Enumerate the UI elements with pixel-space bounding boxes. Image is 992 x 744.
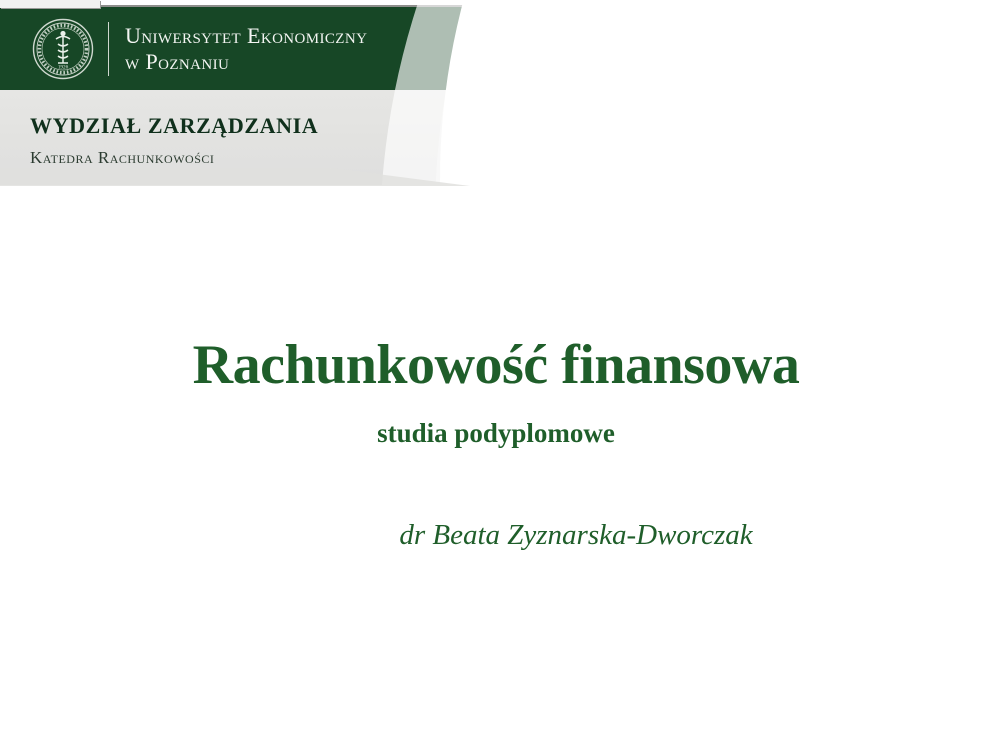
- slide-subtitle: studia podyplomowe: [0, 418, 992, 449]
- university-seal-logo: 1926: [32, 18, 94, 80]
- faculty-department-block: WYDZIAŁ ZARZĄDZANIA Katedra Rachunkowośc…: [30, 113, 318, 168]
- faculty-name: WYDZIAŁ ZARZĄDZANIA: [30, 113, 318, 139]
- slide-title: Rachunkowość finansowa: [0, 333, 992, 397]
- department-name: Katedra Rachunkowości: [30, 148, 318, 168]
- seal-year: 1926: [58, 65, 69, 71]
- slide-header: 1926 Uniwersytet Ekonomiczny w Poznaniu …: [0, 0, 992, 190]
- slide-author: dr Beata Zyznarska-Dworczak: [0, 519, 992, 552]
- building-facade-photo: [600, 0, 992, 190]
- university-name: Uniwersytet Ekonomiczny w Poznaniu: [125, 23, 367, 75]
- university-brand: 1926 Uniwersytet Ekonomiczny w Poznaniu: [32, 14, 367, 84]
- corner-tab: [0, 0, 100, 8]
- university-name-line2: w Poznaniu: [125, 49, 367, 75]
- presentation-slide: 1926 Uniwersytet Ekonomiczny w Poznaniu …: [0, 0, 992, 744]
- brand-divider-rule: [108, 22, 109, 76]
- university-name-line1: Uniwersytet Ekonomiczny: [125, 23, 367, 49]
